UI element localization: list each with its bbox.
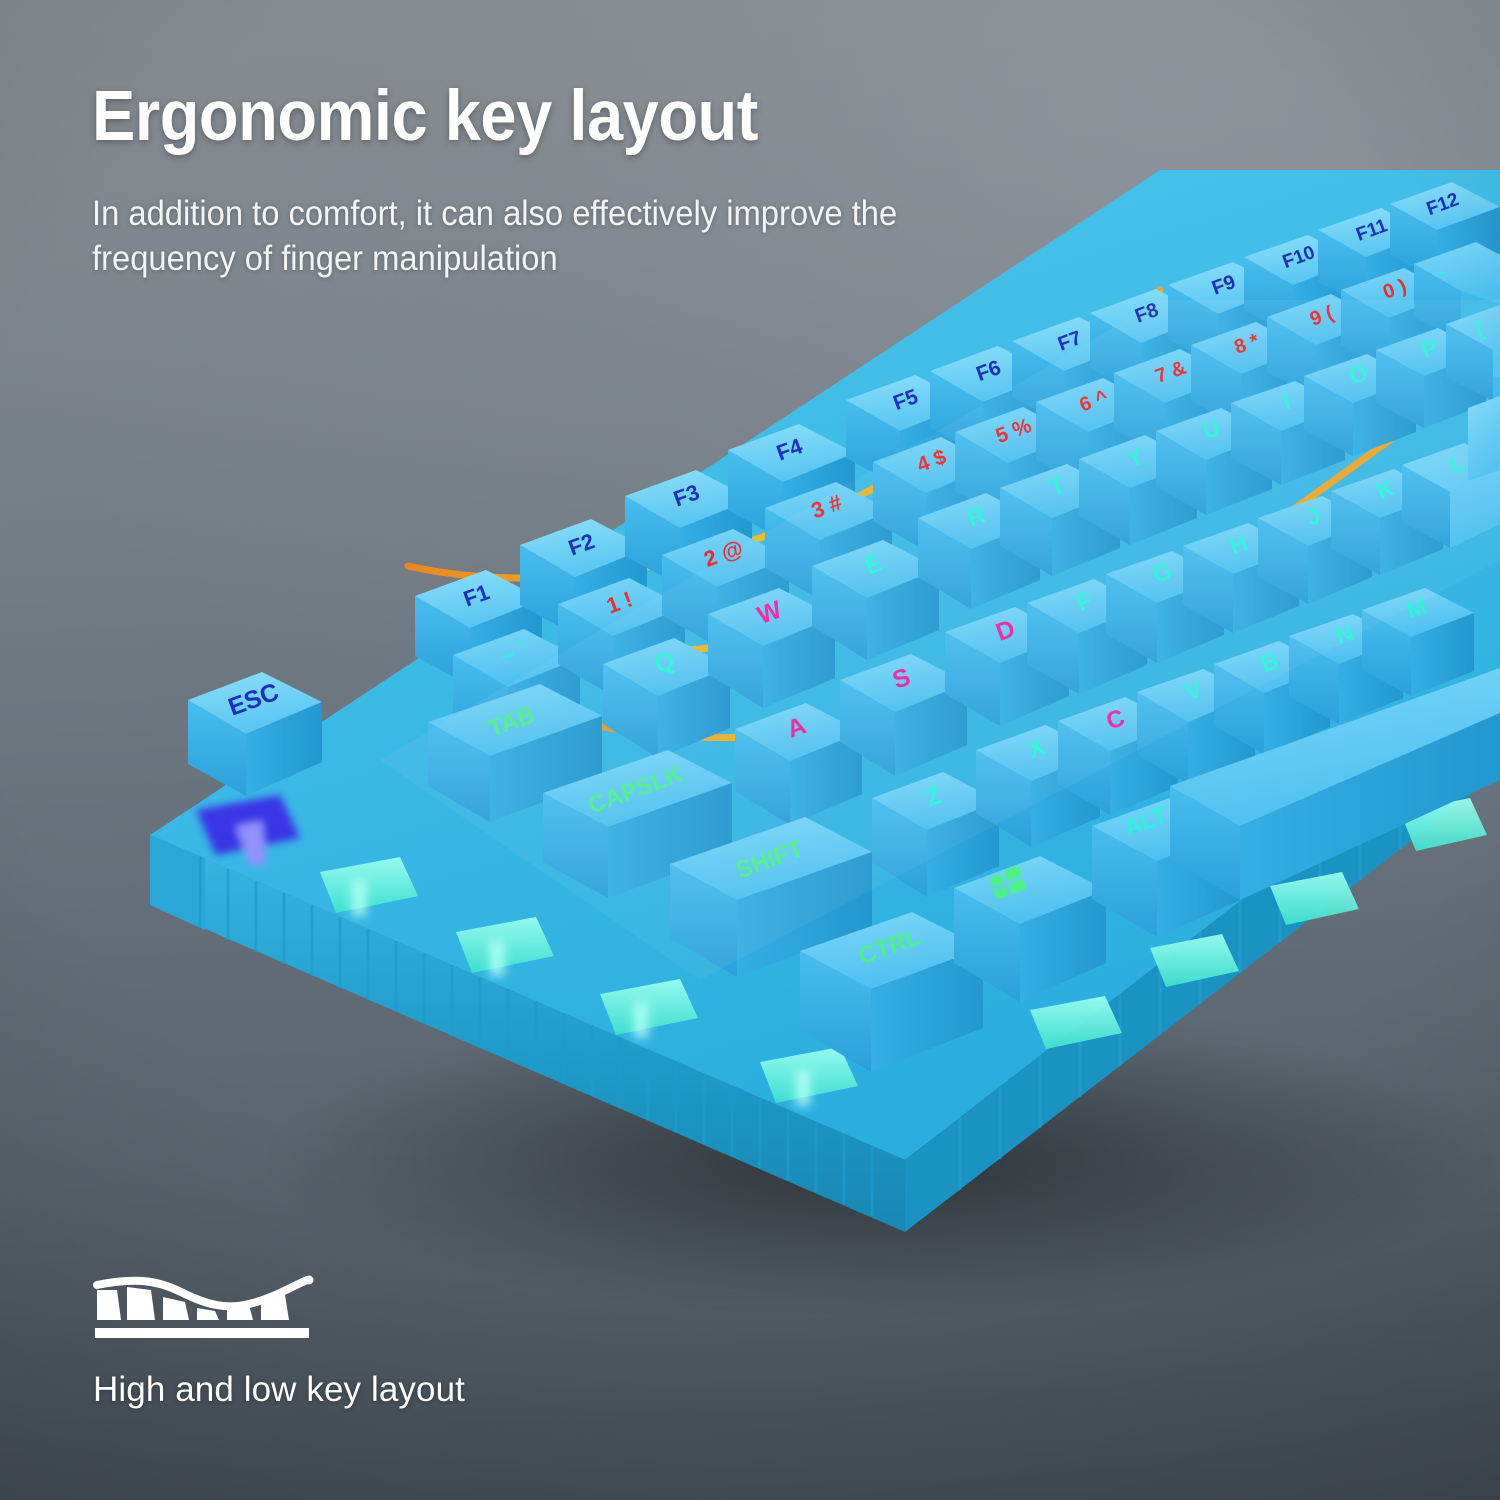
page-subtitle: In addition to comfort, it can also effe… [92,192,1036,282]
page-title: Ergonomic key layout [92,82,961,152]
subtitle-line-2: frequency of finger manipulation [92,237,1036,282]
caption-label: High and low key layout [93,1370,713,1410]
keyboard-profile-icon [93,1268,321,1342]
feature-caption: High and low key layout [93,1268,713,1410]
subtitle-line-1: In addition to comfort, it can also effe… [92,192,1036,237]
